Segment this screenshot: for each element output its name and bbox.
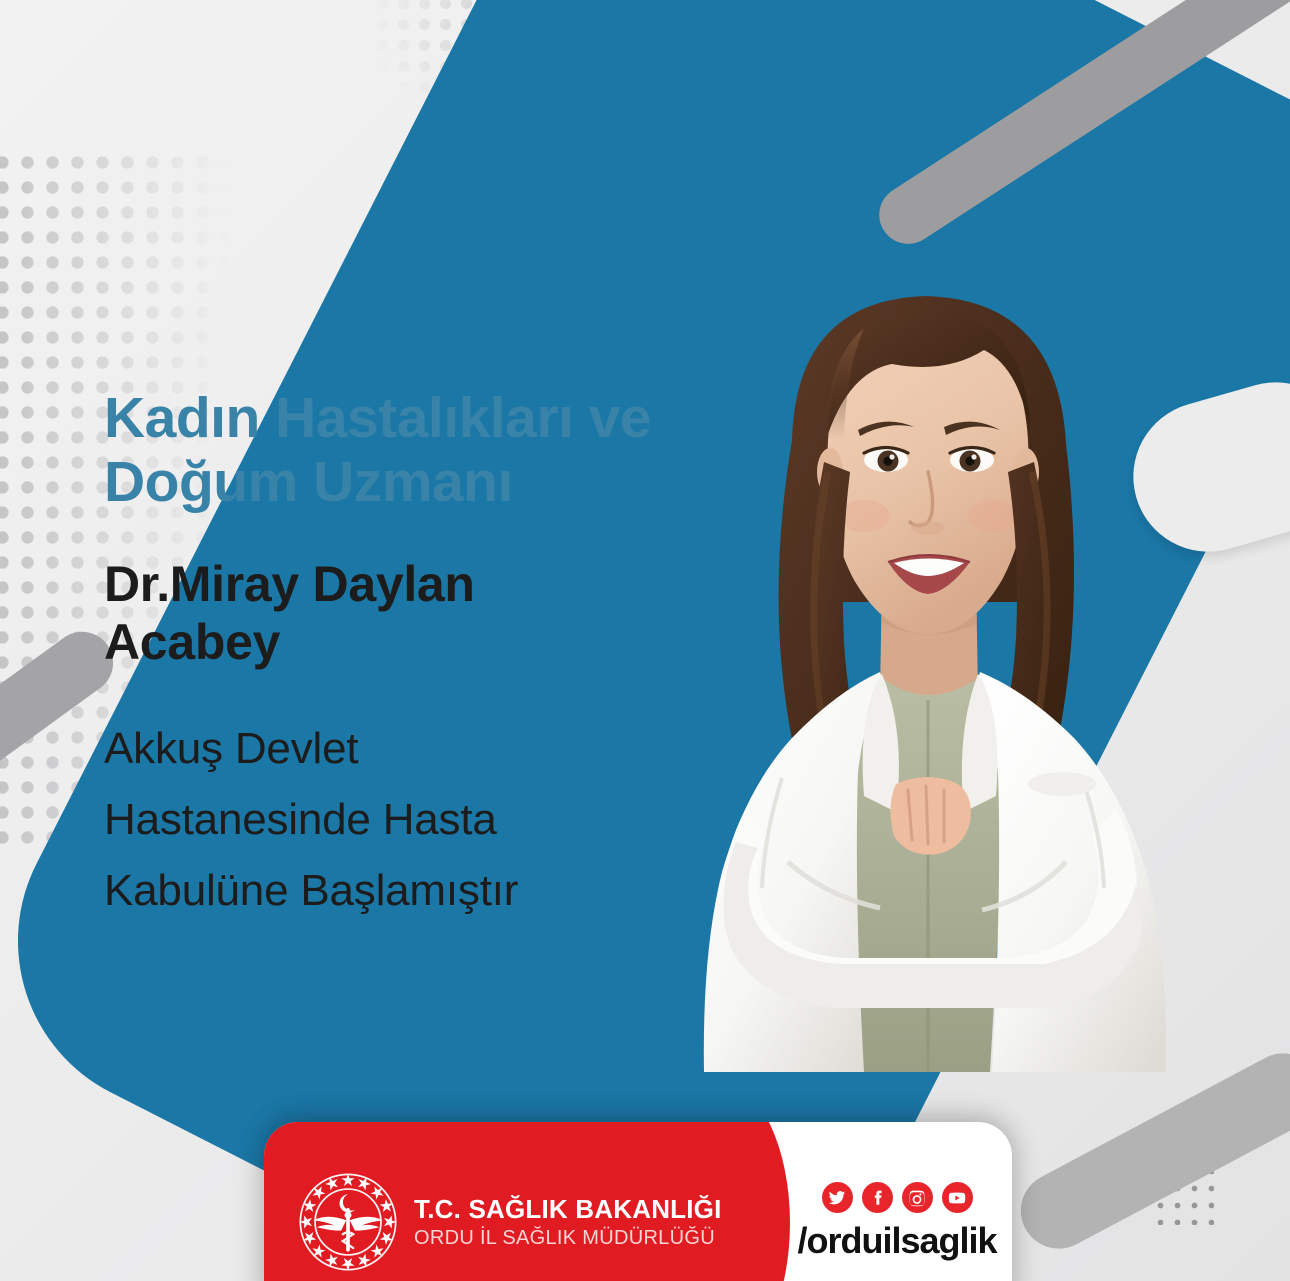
twitter-icon[interactable] bbox=[822, 1182, 853, 1213]
ministry-text-group: T.C. SAĞLIK BAKANLIĞI ORDU İL SAĞLIK MÜD… bbox=[414, 1194, 722, 1250]
poster-text-block: Kadın Hastalıkları ve Doğum Uzmanı Dr.Mi… bbox=[104, 386, 764, 927]
ministry-subtitle: ORDU İL SAĞLIK MÜDÜRLÜĞÜ bbox=[414, 1227, 722, 1250]
instagram-icon[interactable] bbox=[902, 1182, 933, 1213]
facebook-icon[interactable] bbox=[862, 1182, 893, 1213]
social-handle: /orduilsaglik bbox=[797, 1220, 996, 1262]
ministry-of-health-emblem-icon bbox=[296, 1170, 400, 1274]
ministry-title: T.C. SAĞLIK BAKANLIĞI bbox=[414, 1194, 722, 1225]
announcement-note: Akkuş Devlet Hastanesinde Hasta Kabulüne… bbox=[104, 713, 764, 927]
footer-card: T.C. SAĞLIK BAKANLIĞI ORDU İL SAĞLIK MÜD… bbox=[264, 1122, 1012, 1281]
poster-canvas: Kadın Hastalıkları ve Doğum Uzmanı Dr.Mi… bbox=[0, 0, 1290, 1281]
youtube-icon[interactable] bbox=[942, 1182, 973, 1213]
social-icon-row bbox=[822, 1182, 973, 1213]
doctor-name: Dr.Miray Daylan Acabey bbox=[104, 555, 764, 671]
ministry-branding-panel: T.C. SAĞLIK BAKANLIĞI ORDU İL SAĞLIK MÜD… bbox=[264, 1122, 716, 1281]
page-title: Kadın Hastalıkları ve Doğum Uzmanı bbox=[104, 386, 764, 515]
